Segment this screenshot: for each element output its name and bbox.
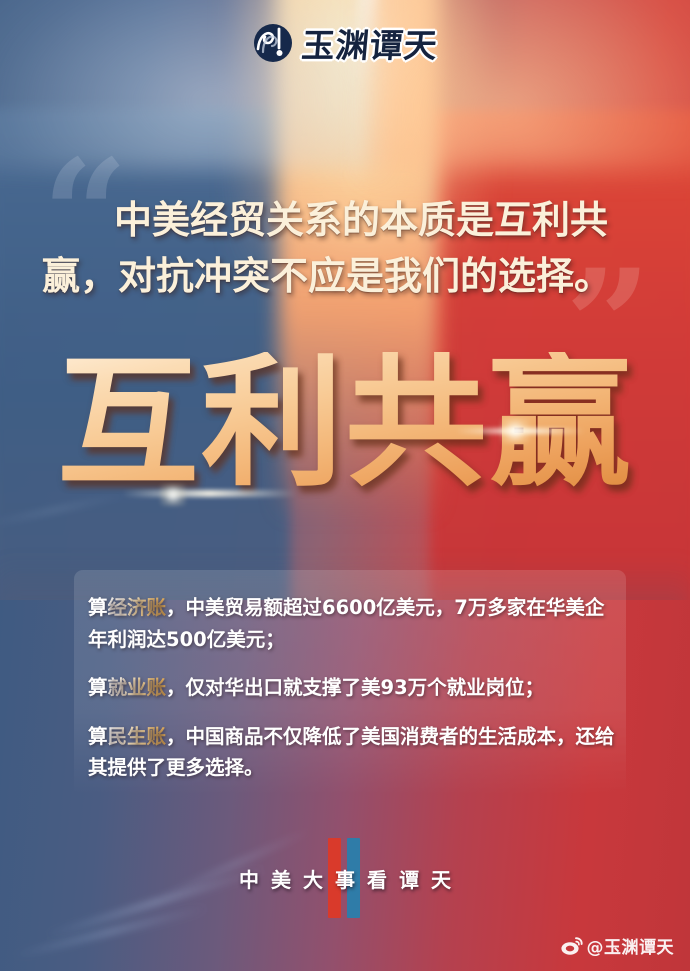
body-paragraph: 算就业账，仅对华出口就支撑了美93万个就业岗位；	[88, 672, 618, 704]
paragraph-rest: ，中国商品不仅降低了美国消费者的生活成本，还给其提供了更多选择。	[88, 725, 615, 780]
paragraph-highlight: 民生账	[108, 725, 167, 748]
body-paragraph: 算经济账，中美贸易额超过6600亿美元，7万多家在华美企年利润达500亿美元；	[88, 592, 618, 655]
paragraph-rest: ，仅对华出口就支撑了美93万个就业岗位；	[166, 676, 544, 699]
quote-line-2: 赢，对抗冲突不应是我们的选择。	[42, 248, 650, 304]
paragraph-rest: ，中美贸易额超过6600亿美元，7万多家在华美企年利润达500亿美元；	[88, 596, 604, 651]
paragraph-highlight: 就业账	[108, 676, 167, 699]
quote-line-1: 中美经贸关系的本质是互利共	[42, 192, 650, 248]
brand-wordmark: 玉渊谭天	[300, 19, 440, 67]
poster-canvas: 玉渊谭天 “ ” 中美经贸关系的本质是互利共 赢，对抗冲突不应是我们的选择。 互…	[0, 0, 690, 971]
quote-text: 中美经贸关系的本质是互利共 赢，对抗冲突不应是我们的选择。	[42, 192, 650, 304]
yuyuan-tantian-wave-icon	[252, 22, 294, 64]
brand-logo: 玉渊谭天	[0, 19, 690, 67]
paragraph-label: 算	[88, 676, 108, 699]
footer: 中美大事看谭天	[0, 838, 690, 918]
weibo-watermark: @玉渊谭天	[561, 933, 675, 958]
headline-title: 互利共赢	[0, 352, 690, 494]
paragraph-label: 算	[88, 725, 108, 748]
paragraph-highlight: 经济账	[108, 596, 167, 619]
body-paragraph: 算民生账，中国商品不仅降低了美国消费者的生活成本，还给其提供了更多选择。	[88, 721, 618, 784]
weibo-handle: @玉渊谭天	[587, 933, 675, 958]
body-text: 算经济账，中美贸易额超过6600亿美元，7万多家在华美企年利润达500亿美元； …	[88, 592, 618, 784]
footer-tagline: 中美大事看谭天	[0, 864, 690, 893]
paragraph-label: 算	[88, 596, 108, 619]
weibo-icon	[561, 936, 583, 955]
